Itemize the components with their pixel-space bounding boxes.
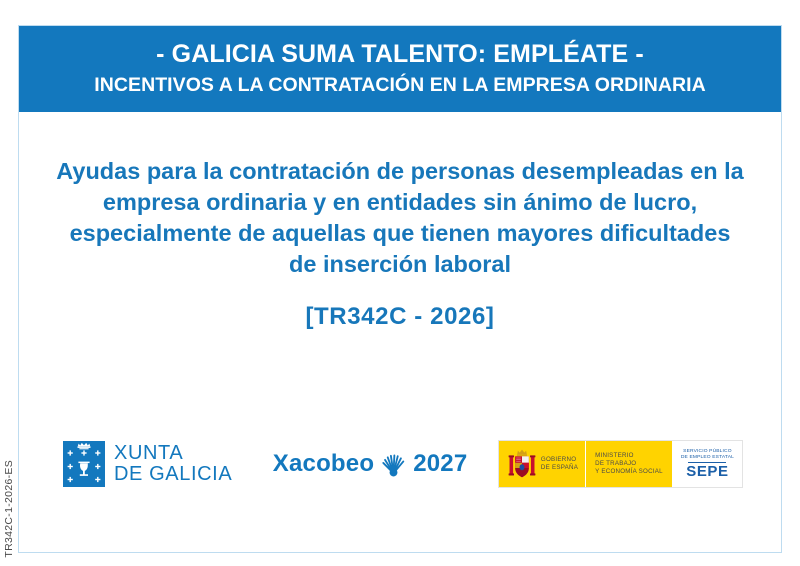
- ministerio-text: MINISTERIO DE TRABAJO Y ECONOMÍA SOCIAL: [595, 452, 663, 475]
- procedure-code: [TR342C - 2026]: [53, 281, 747, 331]
- gobierno-line1: GOBIERNO: [541, 456, 578, 464]
- scallop-shell-icon: [380, 451, 407, 478]
- xacobeo-year: 2027: [413, 450, 467, 478]
- description-text: Ayudas para la contratación de personas …: [53, 112, 747, 281]
- xunta-wordmark-line1: XUNTA: [114, 443, 232, 464]
- logo-xacobeo-2027: Xacobeo 2: [273, 450, 468, 478]
- sepe-block: SERVICIO PÚBLICO DE EMPLEO ESTATAL SEPE: [672, 441, 742, 487]
- logo-gobierno-ministerio-sepe: GOBIERNO DE ESPAÑA MINISTERIO DE TRABAJO…: [498, 440, 743, 488]
- gobierno-de-espana-block: GOBIERNO DE ESPAÑA: [499, 441, 585, 487]
- gobierno-de-espana-text: GOBIERNO DE ESPAÑA: [541, 456, 578, 471]
- xunta-wordmark: XUNTA DE GALICIA: [114, 443, 232, 485]
- sepe-line2: DE EMPLEO ESTATAL: [681, 455, 734, 461]
- sepe-acronym: SEPE: [686, 464, 728, 479]
- xacobeo-word: Xacobeo: [273, 450, 374, 478]
- page-title: - GALICIA SUMA TALENTO: EMPLÉATE -: [37, 40, 763, 70]
- poster-card: - GALICIA SUMA TALENTO: EMPLÉATE - INCEN…: [18, 25, 782, 553]
- ministerio-line1: MINISTERIO: [595, 452, 663, 460]
- document-reference-code: TR342C-1-2026-ES: [0, 418, 18, 558]
- spain-coat-of-arms-icon: [508, 447, 536, 481]
- sepe-full-name: SERVICIO PÚBLICO DE EMPLEO ESTATAL: [681, 449, 734, 461]
- ministerio-line2: DE TRABAJO: [595, 460, 663, 468]
- logo-xunta-de-galicia: XUNTA DE GALICIA: [63, 441, 232, 487]
- ministerio-block: MINISTERIO DE TRABAJO Y ECONOMÍA SOCIAL: [585, 441, 672, 487]
- card-body: Ayudas para la contratación de personas …: [19, 112, 781, 553]
- poster-page: TR342C-1-2026-ES - GALICIA SUMA TALENTO:…: [0, 0, 800, 566]
- xunta-coat-of-arms-icon: [63, 441, 105, 487]
- ministerio-line3: Y ECONOMÍA SOCIAL: [595, 468, 663, 476]
- page-subtitle: INCENTIVOS A LA CONTRATACIÓN EN LA EMPRE…: [37, 74, 763, 97]
- logo-row: XUNTA DE GALICIA Xacobeo: [53, 440, 747, 488]
- document-reference-code-text: TR342C-1-2026-ES: [4, 460, 15, 558]
- gobierno-line2: DE ESPAÑA: [541, 464, 578, 472]
- xunta-wordmark-line2: DE GALICIA: [114, 464, 232, 485]
- header-band: - GALICIA SUMA TALENTO: EMPLÉATE - INCEN…: [19, 26, 781, 112]
